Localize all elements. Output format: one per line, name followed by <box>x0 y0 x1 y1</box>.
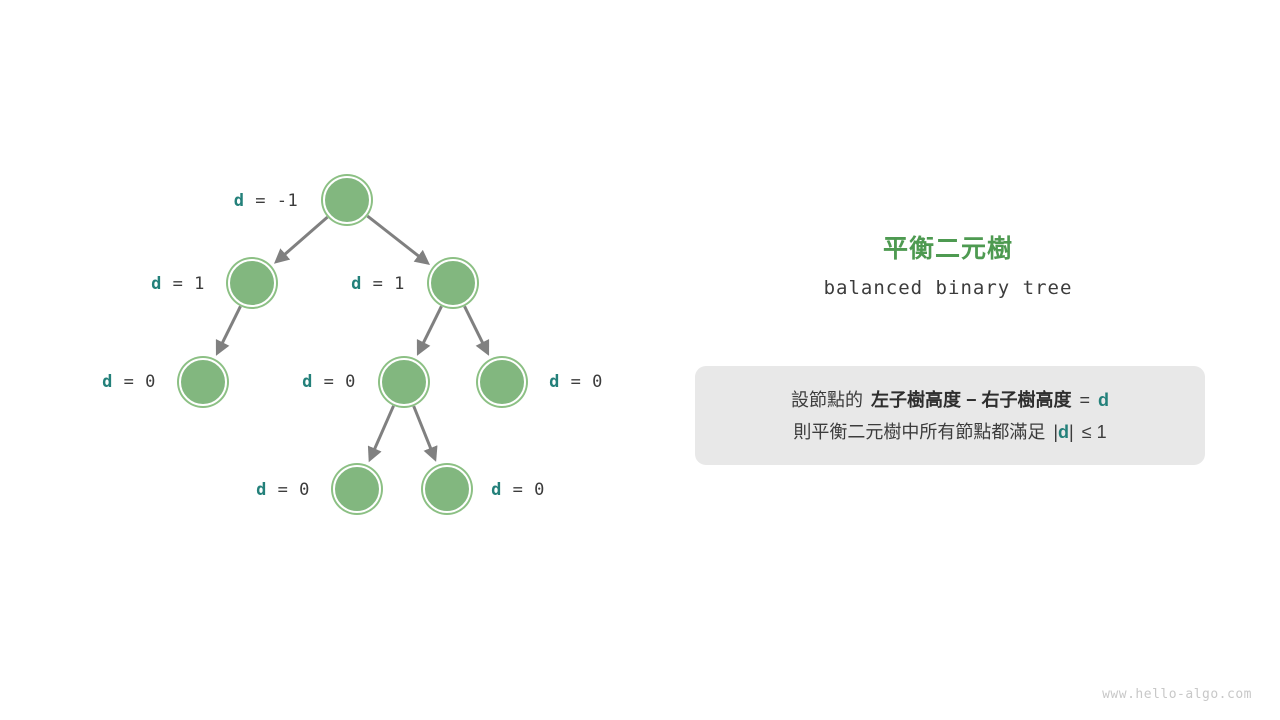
balance-factor-value: = 1 <box>162 274 205 294</box>
definition-line1-equals: = <box>1080 390 1091 410</box>
diagram-canvas: d = -1d = 1d = 1d = 0d = 0d = 0d = 0d = … <box>0 0 1280 720</box>
tree-node-rlr[interactable] <box>423 465 471 513</box>
definition-line2-bound: ≤ 1 <box>1082 422 1107 442</box>
tree-node-r[interactable] <box>429 259 477 307</box>
balance-factor-symbol: d <box>491 480 502 500</box>
balance-factor-value: = 1 <box>362 274 405 294</box>
balance-factor-label-r: d = 1 <box>351 274 405 294</box>
balance-factor-label-rr: d = 0 <box>549 372 603 392</box>
balance-factor-label-rlr: d = 0 <box>491 480 545 500</box>
definition-line1-formula: 左子樹高度 − 右子樹高度 <box>871 390 1072 410</box>
balance-factor-label-ll: d = 0 <box>102 372 156 392</box>
tree-edge <box>419 306 441 351</box>
edge-group <box>218 216 487 458</box>
balance-factor-value: = 0 <box>560 372 603 392</box>
definition-line2-d: d <box>1058 422 1069 442</box>
balance-factor-value: = 0 <box>313 372 356 392</box>
balance-factor-symbol: d <box>234 191 245 211</box>
tree-node-rl[interactable] <box>380 358 428 406</box>
balance-factor-symbol: d <box>102 372 113 392</box>
balance-factor-symbol: d <box>351 274 362 294</box>
definition-box: 設節點的左子樹高度 − 右子樹高度=d 則平衡二元樹中所有節點都滿足|d|≤ 1 <box>695 366 1205 465</box>
tree-node-l[interactable] <box>228 259 276 307</box>
abs-bar-close: | <box>1069 422 1074 442</box>
tree-edge <box>367 216 426 262</box>
definition-line2-text: 則平衡二元樹中所有節點都滿足 <box>793 422 1045 442</box>
definition-line-1: 設節點的左子樹高度 − 右子樹高度=d <box>695 384 1205 416</box>
definition-line1-text: 設節點的 <box>791 390 863 410</box>
tree-node-root[interactable] <box>323 176 371 224</box>
balance-factor-symbol: d <box>256 480 267 500</box>
panel-subtitle: balanced binary tree <box>690 277 1206 299</box>
tree-node-rr[interactable] <box>478 358 526 406</box>
balance-factor-value: = 0 <box>502 480 545 500</box>
tree-edge <box>371 406 394 458</box>
definition-line1-d: d <box>1098 390 1109 410</box>
tree-edge <box>278 217 328 261</box>
binary-tree-diagram: d = -1d = 1d = 1d = 0d = 0d = 0d = 0d = … <box>0 0 660 720</box>
balance-factor-label-rl: d = 0 <box>302 372 356 392</box>
tree-node-rll[interactable] <box>333 465 381 513</box>
watermark: www.hello-algo.com <box>1102 687 1252 702</box>
balance-factor-value: = 0 <box>267 480 310 500</box>
balance-factor-symbol: d <box>302 372 313 392</box>
balance-factor-value: = 0 <box>113 372 156 392</box>
info-panel: 平衡二元樹 balanced binary tree 設節點的左子樹高度 − 右… <box>690 0 1220 720</box>
balance-factor-label-root: d = -1 <box>234 191 298 211</box>
tree-edge <box>465 306 487 351</box>
tree-edges <box>0 0 660 720</box>
definition-line-2: 則平衡二元樹中所有節點都滿足|d|≤ 1 <box>695 416 1205 448</box>
balance-factor-symbol: d <box>151 274 162 294</box>
panel-title: 平衡二元樹 <box>690 229 1206 265</box>
balance-factor-label-l: d = 1 <box>151 274 205 294</box>
balance-factor-label-rll: d = 0 <box>256 480 310 500</box>
tree-edge <box>414 406 435 457</box>
tree-node-ll[interactable] <box>179 358 227 406</box>
balance-factor-value: = -1 <box>245 191 299 211</box>
tree-edge <box>218 306 240 351</box>
balance-factor-symbol: d <box>549 372 560 392</box>
